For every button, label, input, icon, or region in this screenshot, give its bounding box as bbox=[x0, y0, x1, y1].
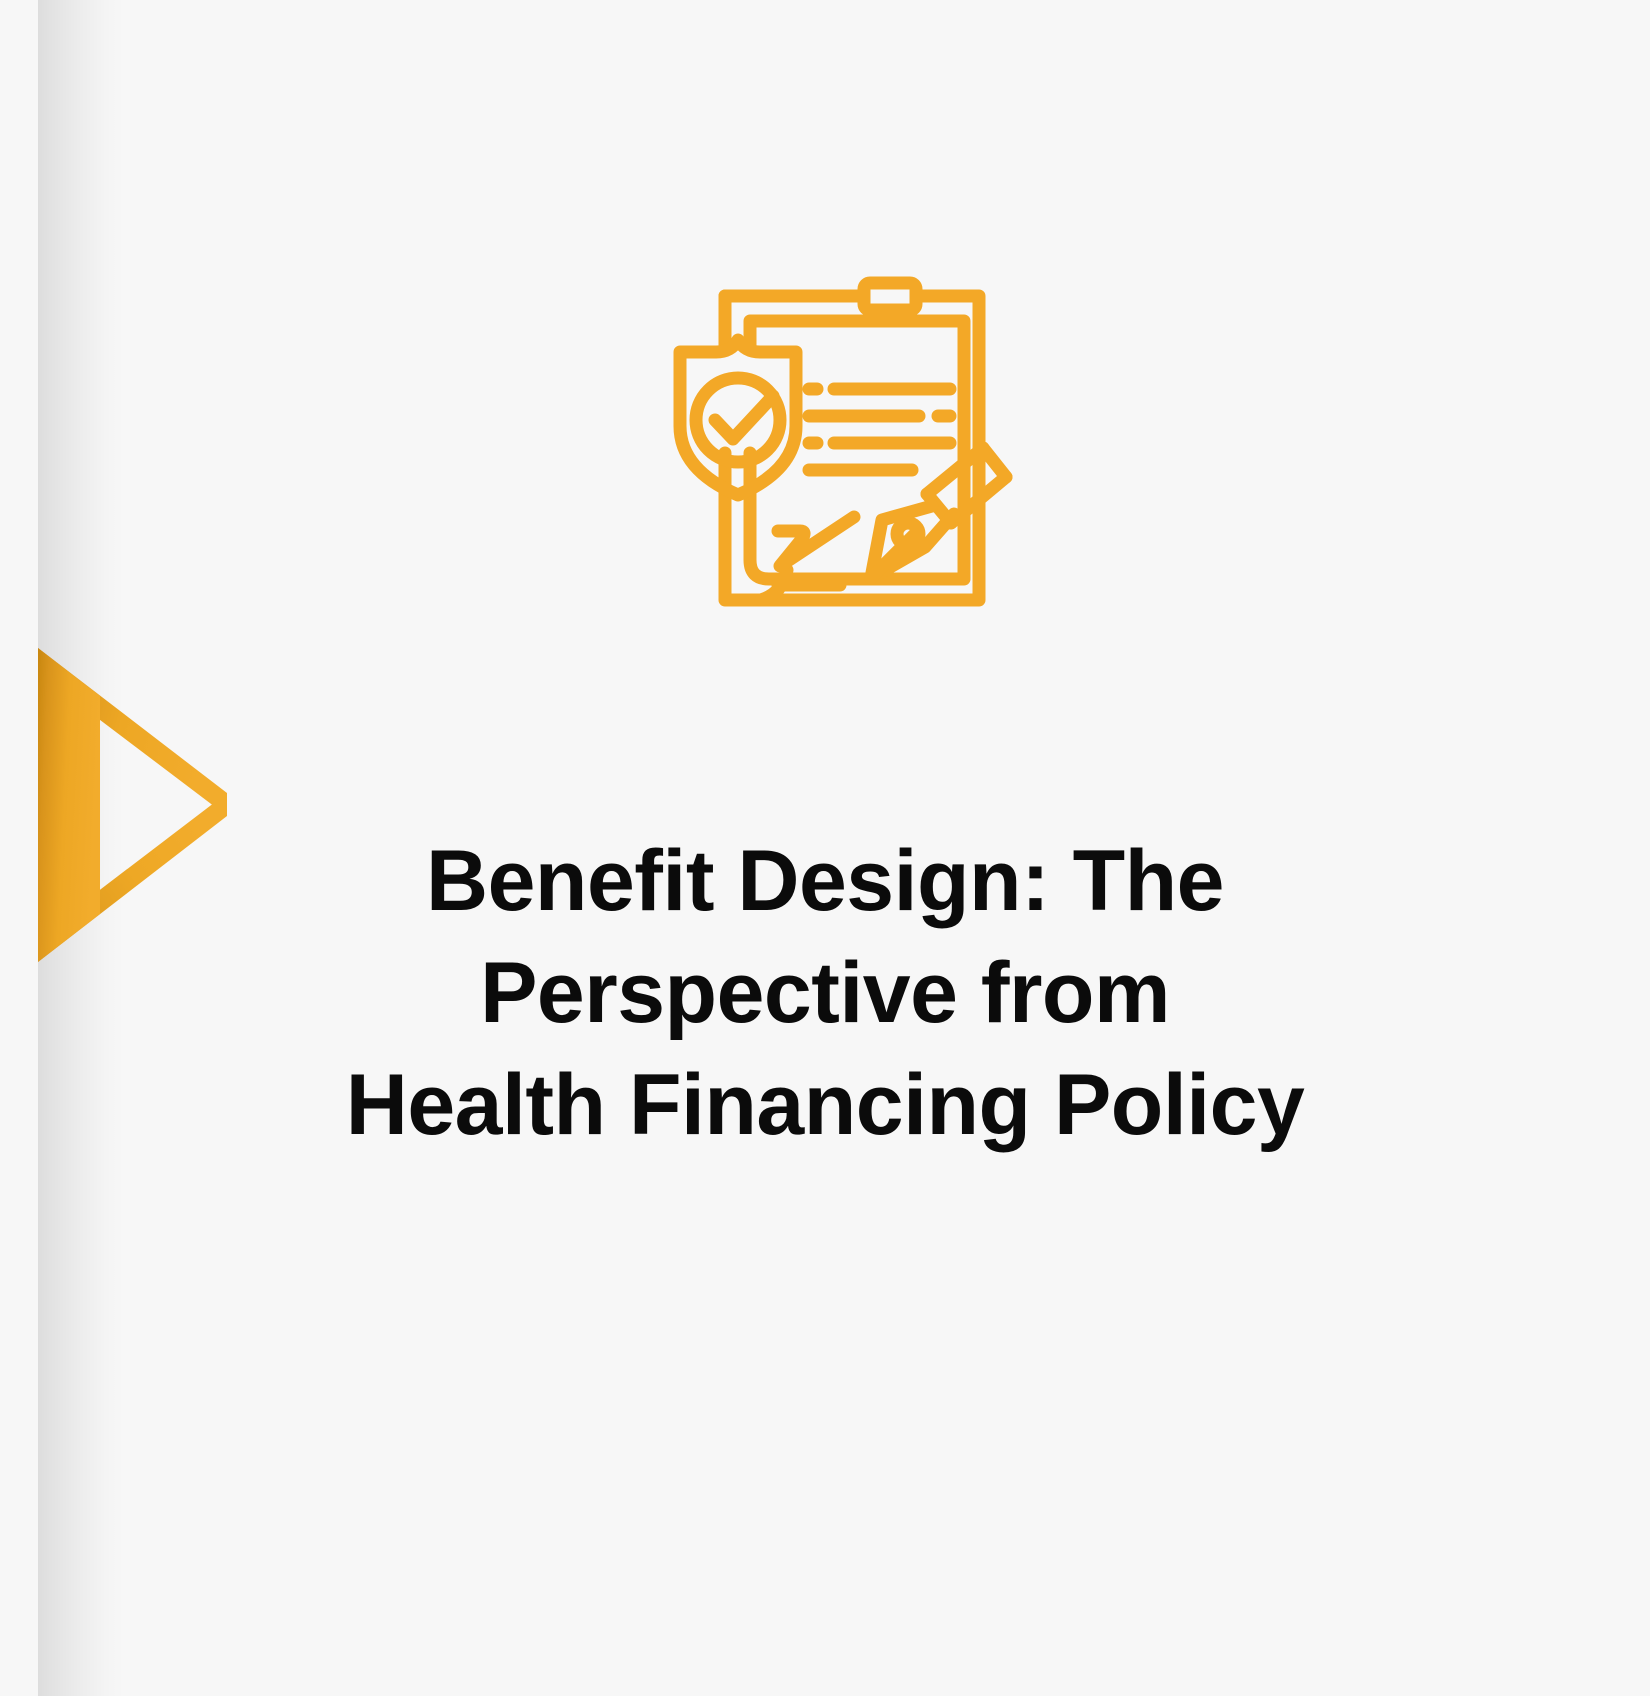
policy-document-shield-pen-icon bbox=[668, 248, 1020, 620]
chevron-right-icon bbox=[38, 640, 228, 970]
card-title: Benefit Design: The Perspective from Hea… bbox=[245, 826, 1405, 1161]
pen-ferrule-right bbox=[983, 448, 1006, 477]
signature-mark bbox=[778, 517, 854, 566]
shield-check bbox=[715, 396, 773, 439]
clipboard-clip bbox=[864, 283, 916, 310]
slide-card: Benefit Design: The Perspective from Hea… bbox=[0, 0, 1650, 1696]
left-edge-fill bbox=[0, 0, 40, 1696]
